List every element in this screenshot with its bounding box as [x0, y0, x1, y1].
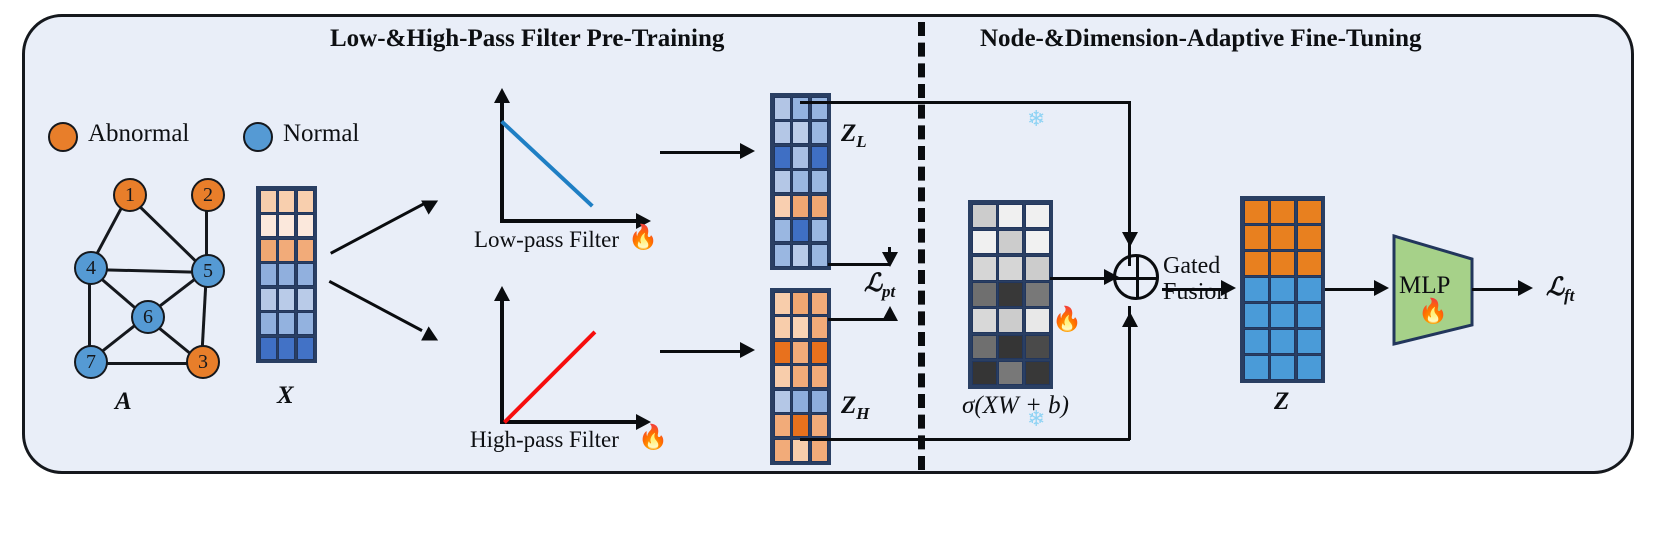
matrix-cell — [811, 244, 828, 267]
matrix-cell — [774, 292, 791, 315]
matrix-cell — [1297, 303, 1322, 327]
arrowhead-highpass-to-zh — [740, 342, 755, 358]
legend-dot-normal — [243, 122, 273, 152]
matrix-cell — [1025, 361, 1050, 386]
matrix-cell — [774, 341, 791, 364]
lowpass-filter-label: Low-pass Filter — [474, 227, 619, 253]
matrix-cell — [792, 316, 809, 339]
section-title-finetuning: Node-&Dimension-Adaptive Fine-Tuning — [980, 25, 1422, 53]
matrix-cell — [774, 195, 791, 218]
matrix-cell — [278, 337, 295, 360]
arrow-lowpass-to-zl — [660, 151, 742, 154]
matrix-zl — [770, 93, 831, 270]
matrix-cell — [811, 219, 828, 242]
matrix-sigma-caption: σ(XW + b) — [962, 392, 1069, 420]
matrix-cell — [972, 282, 997, 307]
highpass-y-arrowhead — [494, 286, 510, 301]
highpass-y-axis — [500, 298, 504, 423]
matrix-cell — [811, 414, 828, 437]
mlp-label: MLP — [1399, 272, 1450, 300]
matrix-cell — [792, 244, 809, 267]
matrix-cell — [792, 195, 809, 218]
matrix-cell — [1297, 225, 1322, 249]
matrix-cell — [774, 390, 791, 413]
matrix-cell — [1270, 200, 1295, 224]
arrow-sigma-to-plus — [1050, 277, 1107, 280]
graph-caption: A — [115, 388, 132, 416]
arrow-z-to-mlp — [1325, 288, 1378, 291]
matrix-cell — [1025, 335, 1050, 360]
matrix-cell — [998, 361, 1023, 386]
matrix-cell — [774, 439, 791, 462]
highpass-filter-label: High-pass Filter — [470, 427, 619, 453]
loss-pt-label: ℒpt — [864, 268, 895, 302]
matrix-cell — [278, 288, 295, 311]
matrix-cell — [260, 263, 277, 286]
legend-label-abnormal: Abnormal — [88, 120, 189, 148]
lowpass-y-arrowhead — [494, 88, 510, 103]
graph-node-1: 1 — [113, 178, 147, 212]
highpass-x-axis — [500, 420, 638, 424]
arrowhead-loss-down — [882, 252, 898, 267]
arrowhead-z-to-mlp — [1374, 280, 1389, 296]
graph-node-7: 7 — [74, 345, 108, 379]
skipline-zh-bottom — [800, 438, 1130, 441]
matrix-cell — [811, 292, 828, 315]
legend-label-normal: Normal — [283, 120, 359, 148]
matrix-cell — [811, 121, 828, 144]
matrix-cell — [811, 195, 828, 218]
vline-up-loss — [888, 318, 891, 320]
matrix-cell — [792, 170, 809, 193]
matrix-cell — [1025, 282, 1050, 307]
matrix-cell — [1270, 225, 1295, 249]
matrix-cell — [998, 282, 1023, 307]
matrix-cell — [811, 390, 828, 413]
matrix-cell — [297, 312, 314, 335]
matrix-cell — [811, 146, 828, 169]
matrix-cell — [972, 361, 997, 386]
matrix-cell — [792, 97, 809, 120]
arrow-mlp-to-loss-ft — [1472, 288, 1522, 291]
section-title-pretraining: Low-&High-Pass Filter Pre-Training — [330, 25, 724, 53]
matrix-cell — [278, 190, 295, 213]
lowpass-x-axis — [500, 219, 638, 223]
matrix-cell — [1244, 329, 1269, 353]
flame-icon-highpass: 🔥 — [638, 426, 668, 450]
figure-root: Low-&High-Pass Filter Pre-Training Node-… — [0, 0, 1660, 543]
matrix-cell — [972, 204, 997, 229]
matrix-cell — [811, 365, 828, 388]
matrix-cell — [297, 190, 314, 213]
arrow-highpass-to-zh — [660, 350, 742, 353]
matrix-cell — [1270, 303, 1295, 327]
matrix-cell — [1297, 329, 1322, 353]
matrix-cell — [1025, 256, 1050, 281]
matrix-cell — [1270, 251, 1295, 275]
zh-symbol: Z — [841, 392, 856, 419]
matrix-cell — [1297, 200, 1322, 224]
plus-vbar — [1136, 256, 1139, 299]
matrix-cell — [774, 97, 791, 120]
flame-icon-lowpass: 🔥 — [628, 226, 658, 250]
matrix-cell — [1025, 204, 1050, 229]
matrix-cell — [1025, 230, 1050, 255]
gated-fusion-line2: Fusion — [1163, 279, 1228, 305]
matrix-cell — [1244, 225, 1269, 249]
matrix-cell — [972, 335, 997, 360]
matrix-cell — [297, 263, 314, 286]
matrix-cell — [1244, 200, 1269, 224]
arrow-top-into-plus — [1128, 101, 1131, 236]
arrowhead-lowpass-to-zl — [740, 143, 755, 159]
graph-node-4: 4 — [74, 251, 108, 285]
matrix-cell — [774, 316, 791, 339]
arrow-fusion-to-z — [1162, 288, 1224, 291]
matrix-z — [1240, 196, 1325, 383]
line-zl-to-loss — [828, 263, 890, 266]
matrix-cell — [811, 316, 828, 339]
matrix-cell — [811, 170, 828, 193]
matrix-cell — [792, 414, 809, 437]
graph-node-2: 2 — [191, 178, 225, 212]
matrix-cell — [774, 244, 791, 267]
matrix-cell — [1270, 277, 1295, 301]
matrix-cell — [278, 214, 295, 237]
legend-dot-abnormal — [48, 122, 78, 152]
line-zh-to-loss — [828, 318, 890, 321]
lowpass-y-axis — [500, 100, 504, 222]
matrix-x-caption: X — [277, 382, 294, 410]
matrix-cell — [1270, 355, 1295, 379]
matrix-cell — [297, 239, 314, 262]
matrix-cell — [792, 439, 809, 462]
matrix-cell — [774, 414, 791, 437]
matrix-cell — [297, 214, 314, 237]
matrix-cell — [1270, 329, 1295, 353]
matrix-cell — [1025, 308, 1050, 333]
matrix-cell — [260, 288, 277, 311]
matrix-z-caption: Z — [1274, 388, 1289, 416]
matrix-cell — [792, 390, 809, 413]
matrix-cell — [792, 292, 809, 315]
arrowhead-top-into-plus — [1122, 232, 1138, 247]
matrix-zh-caption: ZH — [841, 392, 870, 424]
matrix-cell — [1297, 251, 1322, 275]
matrix-cell — [260, 239, 277, 262]
flame-icon-sigma: 🔥 — [1052, 308, 1082, 332]
gated-fusion-label: Gated Fusion — [1163, 254, 1228, 306]
graph-node-6: 6 — [131, 300, 165, 334]
matrix-cell — [792, 365, 809, 388]
matrix-cell — [998, 256, 1023, 281]
graph-node-3: 3 — [186, 345, 220, 379]
matrix-cell — [774, 219, 791, 242]
zl-symbol: Z — [841, 120, 856, 147]
matrix-cell — [774, 146, 791, 169]
matrix-cell — [972, 308, 997, 333]
matrix-cell — [792, 146, 809, 169]
matrix-cell — [260, 312, 277, 335]
arrowhead-bottom-into-plus — [1122, 312, 1138, 327]
skipline-zl-top — [800, 101, 1130, 104]
section-divider — [918, 22, 925, 470]
arrowhead-mlp-to-loss-ft — [1518, 280, 1533, 296]
matrix-zl-caption: ZL — [841, 120, 867, 152]
matrix-cell — [972, 230, 997, 255]
matrix-cell — [278, 312, 295, 335]
matrix-cell — [792, 341, 809, 364]
matrix-cell — [998, 308, 1023, 333]
loss-ft-label: ℒft — [1546, 272, 1574, 306]
gated-fusion-line1: Gated — [1163, 253, 1220, 279]
matrix-cell — [1244, 355, 1269, 379]
matrix-cell — [998, 204, 1023, 229]
matrix-cell — [297, 337, 314, 360]
matrix-x — [256, 186, 317, 363]
matrix-cell — [774, 170, 791, 193]
graph-node-5: 5 — [191, 254, 225, 288]
matrix-cell — [1244, 277, 1269, 301]
matrix-sigma — [968, 200, 1053, 389]
matrix-cell — [998, 230, 1023, 255]
matrix-cell — [260, 190, 277, 213]
matrix-cell — [297, 288, 314, 311]
matrix-cell — [1297, 277, 1322, 301]
matrix-cell — [792, 121, 809, 144]
matrix-cell — [1244, 251, 1269, 275]
matrix-cell — [811, 439, 828, 462]
matrix-cell — [811, 97, 828, 120]
matrix-cell — [972, 256, 997, 281]
loss-pt-symbol: ℒ — [864, 270, 882, 297]
loss-ft-symbol: ℒ — [1546, 274, 1564, 301]
snowflake-icon-top: ❄ — [1027, 108, 1045, 130]
flame-icon-mlp: 🔥 — [1418, 300, 1448, 324]
matrix-cell — [260, 337, 277, 360]
matrix-cell — [1297, 355, 1322, 379]
matrix-cell — [998, 335, 1023, 360]
matrix-cell — [811, 341, 828, 364]
matrix-cell — [278, 263, 295, 286]
arrowhead-fusion-to-z — [1221, 280, 1236, 296]
matrix-cell — [774, 121, 791, 144]
matrix-cell — [792, 219, 809, 242]
matrix-cell — [774, 365, 791, 388]
matrix-cell — [260, 214, 277, 237]
matrix-cell — [278, 239, 295, 262]
matrix-cell — [1244, 303, 1269, 327]
